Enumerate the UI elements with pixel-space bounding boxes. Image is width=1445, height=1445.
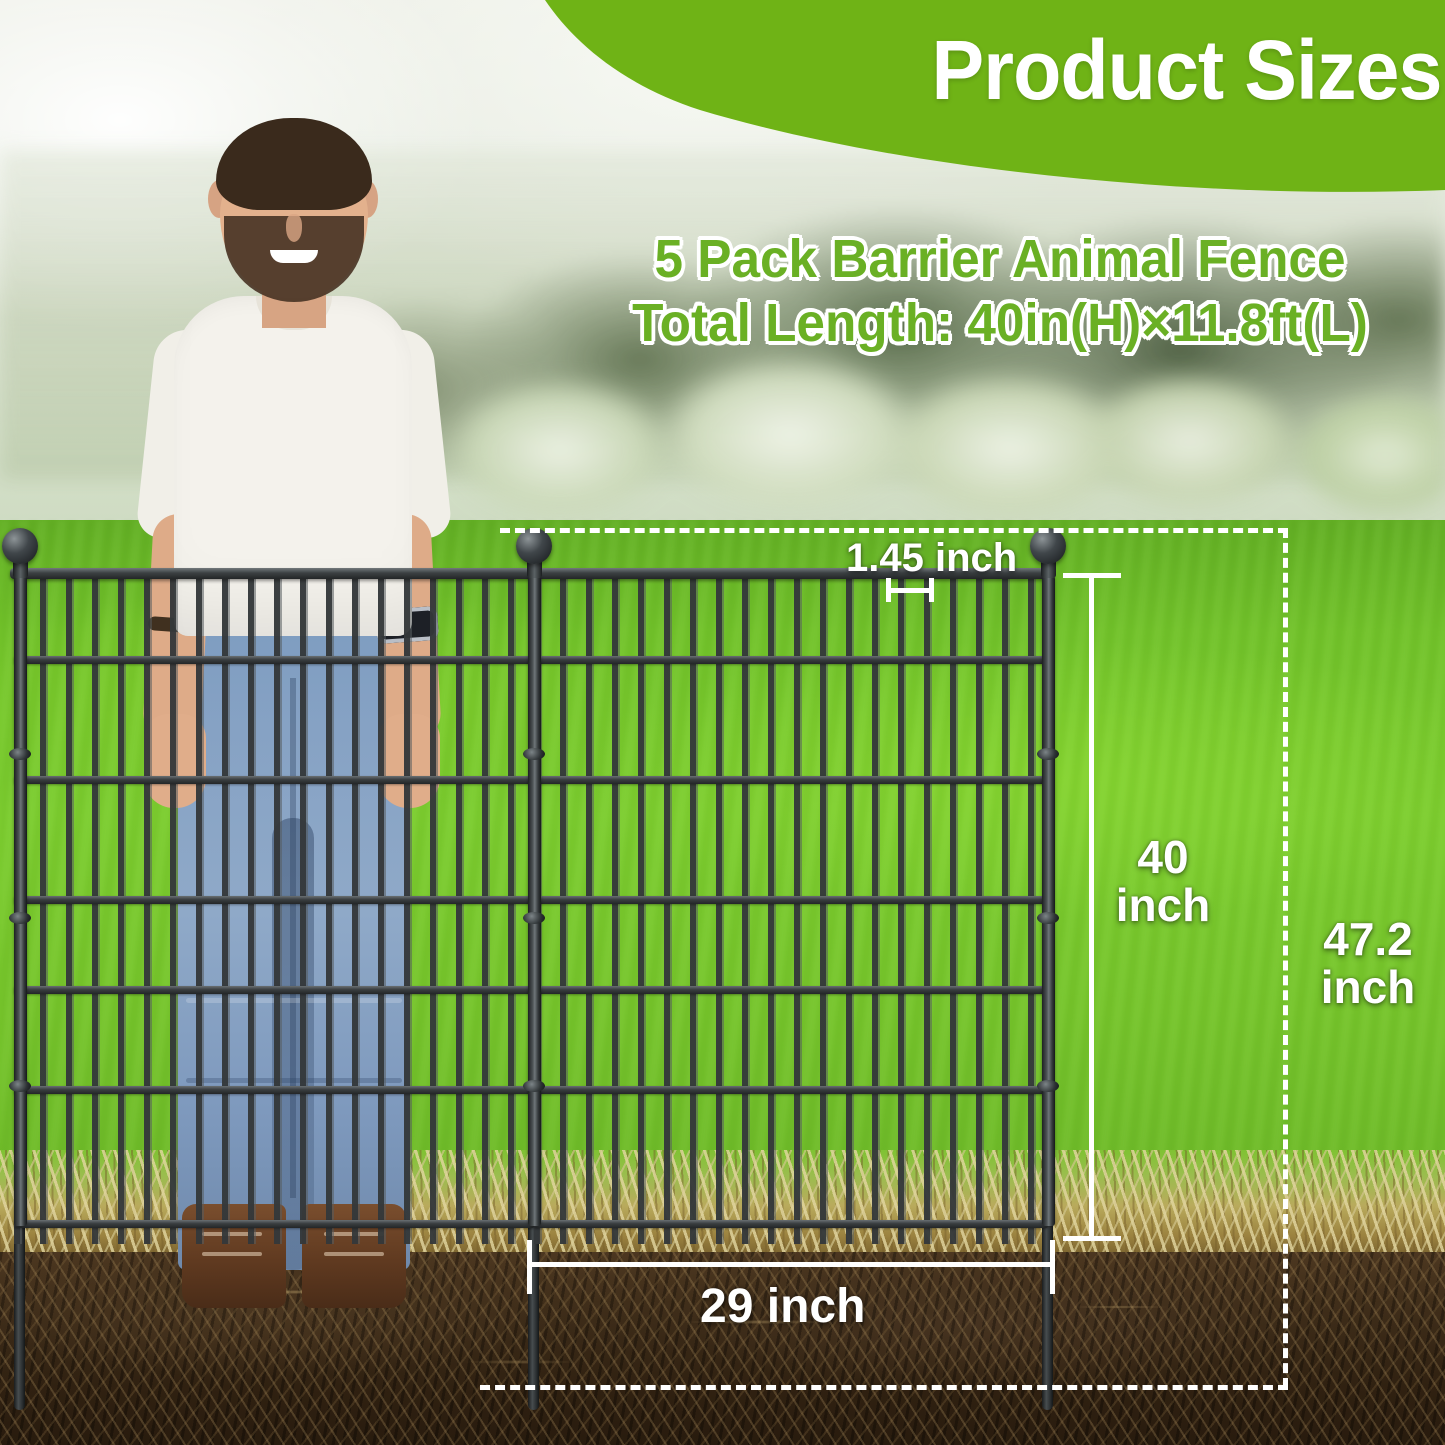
fence-post (14, 576, 27, 1226)
fence-bottom-rail (14, 1220, 534, 1228)
post-ball-finial (516, 528, 552, 564)
nose (286, 214, 302, 242)
panel-height-unit: inch (1116, 879, 1211, 931)
total-height-value: 47.2 (1323, 913, 1413, 965)
panel-height-label: 40 inch (1108, 834, 1218, 930)
dimension-cap-40inch-bottom (1063, 1236, 1121, 1241)
total-height-label: 47.2 inch (1300, 916, 1436, 1012)
product-subtitle: 5 Pack Barrier Animal Fence Total Length… (582, 228, 1418, 355)
fence-cross-rail (14, 896, 534, 904)
fence-post (1042, 576, 1055, 1226)
post-joint (9, 912, 31, 924)
dimension-line-bottom-dashed (480, 1385, 1288, 1390)
dimension-cap-40inch-top (1063, 573, 1121, 578)
post-joint (9, 1080, 31, 1092)
fence-cross-rail (14, 1086, 534, 1094)
bar-gap-bracket-line (886, 588, 934, 593)
hair (216, 118, 372, 210)
page-title: Product Sizes (931, 22, 1441, 119)
fence-cross-rail (534, 896, 1048, 904)
bar-gap-bracket-cap-left (886, 578, 891, 602)
total-height-unit: inch (1321, 961, 1416, 1013)
dimension-cap-29inch-right (1050, 1240, 1055, 1294)
fence-cross-rail (14, 986, 534, 994)
post-joint (523, 912, 545, 924)
bar-gap-label: 1.45 inch (846, 538, 1017, 580)
fence-vertical-bars (534, 572, 1048, 1244)
post-joint (1037, 1080, 1059, 1092)
dimension-line-total-height-dashed (1283, 528, 1288, 1388)
fence-bottom-rail (534, 1220, 1048, 1228)
post-joint (1037, 912, 1059, 924)
post-joint (1037, 748, 1059, 760)
fence-cross-rail (534, 1086, 1048, 1094)
post-joint (523, 748, 545, 760)
fence-cross-rail (534, 656, 1048, 664)
subtitle-line-1: 5 Pack Barrier Animal Fence (582, 228, 1418, 292)
panel-height-value: 40 (1137, 831, 1188, 883)
fence-cross-rail (14, 656, 534, 664)
dimension-cap-29inch-left (527, 1240, 532, 1294)
fence-stake (14, 1220, 25, 1410)
dimension-line-29inch (527, 1262, 1055, 1267)
fence-cross-rail (534, 776, 1048, 784)
bar-gap-bracket-cap-right (929, 578, 934, 602)
fence-top-rail (10, 568, 538, 579)
subtitle-line-2: Total Length: 40in(H)×11.8ft(L) (582, 292, 1418, 356)
dimension-line-top-dashed (500, 528, 1288, 533)
post-ball-finial (1030, 528, 1066, 564)
post-joint (523, 1080, 545, 1092)
fence-vertical-bars (14, 572, 534, 1244)
post-joint (9, 748, 31, 760)
dimension-line-40inch (1089, 573, 1094, 1241)
product-size-infographic: 1.45 inch 40 inch 47.2 inch 29 inch Prod… (0, 0, 1445, 1445)
smiling-mouth (270, 250, 318, 263)
fence-assembly (0, 520, 1100, 1260)
post-ball-finial (2, 528, 38, 564)
fence-cross-rail (14, 776, 534, 784)
fence-cross-rail (534, 986, 1048, 994)
panel-width-label: 29 inch (700, 1282, 865, 1332)
fence-post (528, 576, 541, 1226)
